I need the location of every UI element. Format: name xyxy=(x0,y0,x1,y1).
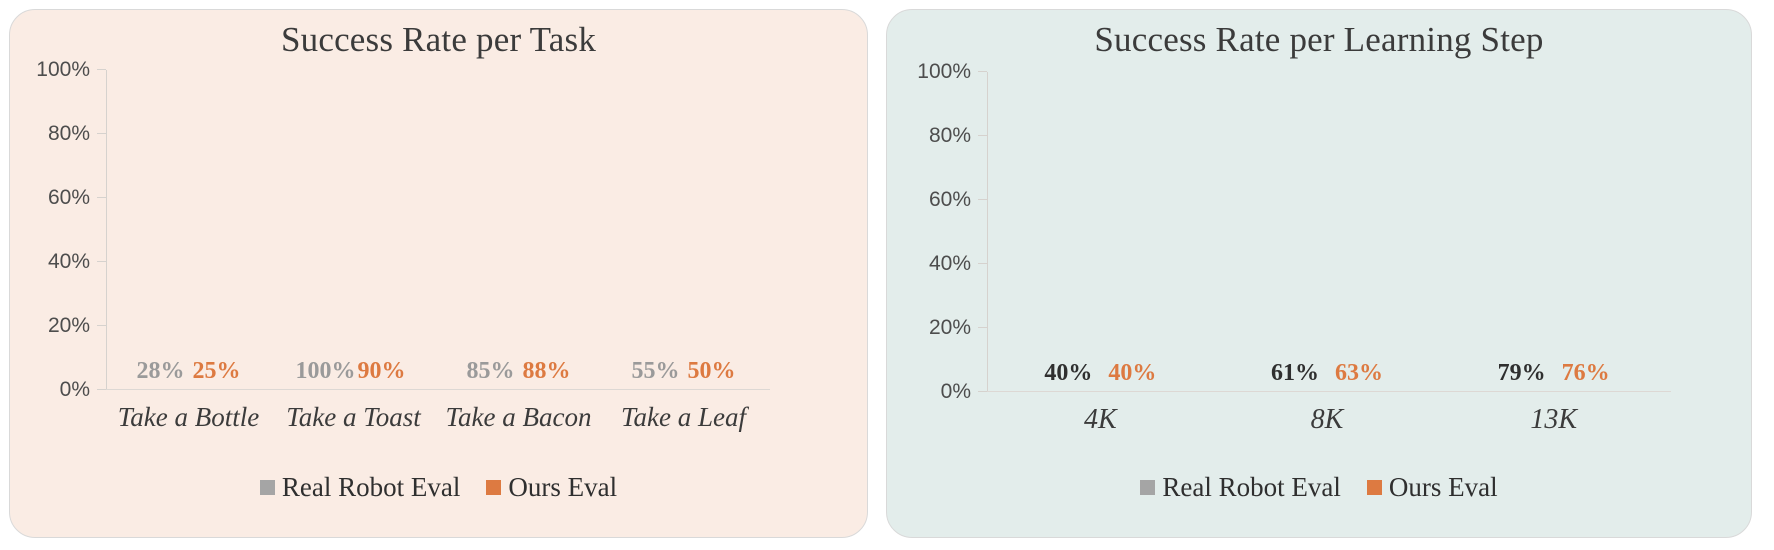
bar-value-label: 76% xyxy=(1562,360,1610,387)
y-axis-tick xyxy=(978,135,987,136)
square-swatch-icon xyxy=(260,480,275,495)
figure-root: Success Rate per Task 0%20%40%60%80%100%… xyxy=(0,0,1774,550)
x-axis-category-label: 4K xyxy=(1084,404,1117,436)
y-axis-label: 100% xyxy=(917,60,971,84)
legend-label: Real Robot Eval xyxy=(282,472,460,503)
bar-group: 61%63%8K xyxy=(1214,72,1441,392)
bar-value-label: 63% xyxy=(1335,360,1383,387)
bar-group: 40%40%4K xyxy=(987,72,1214,392)
bar-value-label: 40% xyxy=(1044,360,1092,387)
chart-title-task: Success Rate per Task xyxy=(10,20,867,60)
legend-label: Ours Eval xyxy=(508,472,617,503)
legend-item-real-robot-eval[interactable]: Real Robot Eval xyxy=(1140,472,1340,503)
legend-label: Real Robot Eval xyxy=(1162,472,1340,503)
y-axis-label: 40% xyxy=(929,252,971,276)
bar-value-label: 85% xyxy=(467,358,515,385)
y-axis-label: 60% xyxy=(48,186,90,210)
y-axis-label: 20% xyxy=(48,314,90,338)
y-axis-tick xyxy=(97,133,106,134)
y-axis-tick xyxy=(978,199,987,200)
square-swatch-icon xyxy=(486,480,501,495)
y-axis-label: 80% xyxy=(929,124,971,148)
y-axis-tick xyxy=(978,327,987,328)
chart-panel-task: Success Rate per Task 0%20%40%60%80%100%… xyxy=(9,9,868,538)
bar-group: 79%76%13K xyxy=(1440,72,1667,392)
y-axis-label: 100% xyxy=(36,58,90,82)
bar-value-label: 40% xyxy=(1108,360,1156,387)
bar-value-label: 55% xyxy=(632,358,680,385)
bar-value-label: 90% xyxy=(358,358,406,385)
bar-value-label: 61% xyxy=(1271,360,1319,387)
y-axis-label: 0% xyxy=(941,380,971,404)
y-axis-tick xyxy=(978,263,987,264)
y-axis-tick xyxy=(978,71,987,72)
y-axis-tick xyxy=(97,389,106,390)
y-axis-label: 20% xyxy=(929,316,971,340)
y-axis-tick xyxy=(97,197,106,198)
bar-value-label: 50% xyxy=(688,358,736,385)
y-axis-tick xyxy=(97,261,106,262)
bar-group: 55%50%Take a Leaf xyxy=(601,70,766,390)
square-swatch-icon xyxy=(1367,480,1382,495)
x-axis-category-label: Take a Bottle xyxy=(118,402,260,433)
x-axis-category-label: Take a Leaf xyxy=(621,402,746,433)
x-axis-category-label: Take a Toast xyxy=(286,402,421,433)
y-axis-label: 80% xyxy=(48,122,90,146)
x-axis-category-label: 13K xyxy=(1530,404,1577,436)
bar-value-label: 28% xyxy=(137,358,185,385)
y-axis-label: 60% xyxy=(929,188,971,212)
x-axis-category-label: Take a Bacon xyxy=(446,402,592,433)
x-axis-category-label: 8K xyxy=(1311,404,1344,436)
bar-value-label: 25% xyxy=(193,358,241,385)
chart-title-learning-step: Success Rate per Learning Step xyxy=(887,20,1751,60)
legend-item-real-robot-eval[interactable]: Real Robot Eval xyxy=(260,472,460,503)
chart-panel-learning-step: Success Rate per Learning Step 0%20%40%6… xyxy=(886,9,1752,538)
bar-value-label: 100% xyxy=(296,358,356,385)
legend-item-ours-eval[interactable]: Ours Eval xyxy=(486,472,617,503)
bar-group: 85%88%Take a Bacon xyxy=(436,70,601,390)
bar-group: 28%25%Take a Bottle xyxy=(106,70,271,390)
legend-task: Real Robot Eval Ours Eval xyxy=(10,472,867,503)
bar-value-label: 79% xyxy=(1498,360,1546,387)
y-axis-label: 40% xyxy=(48,250,90,274)
y-axis-tick xyxy=(97,69,106,70)
square-swatch-icon xyxy=(1140,480,1155,495)
bar-groups: 28%25%Take a Bottle100%90%Take a Toast85… xyxy=(106,70,766,390)
y-axis-tick xyxy=(97,325,106,326)
legend-learning-step: Real Robot Eval Ours Eval xyxy=(887,472,1751,503)
bar-groups: 40%40%4K61%63%8K79%76%13K xyxy=(987,72,1667,392)
y-axis-tick xyxy=(978,391,987,392)
plot-area-task: 0%20%40%60%80%100% 28%25%Take a Bottle10… xyxy=(106,70,766,390)
bar-group: 100%90%Take a Toast xyxy=(271,70,436,390)
legend-label: Ours Eval xyxy=(1389,472,1498,503)
bar-value-label: 88% xyxy=(523,358,571,385)
plot-area-learning-step: 0%20%40%60%80%100% 40%40%4K61%63%8K79%76… xyxy=(987,72,1667,392)
legend-item-ours-eval[interactable]: Ours Eval xyxy=(1367,472,1498,503)
y-axis-label: 0% xyxy=(60,378,90,402)
